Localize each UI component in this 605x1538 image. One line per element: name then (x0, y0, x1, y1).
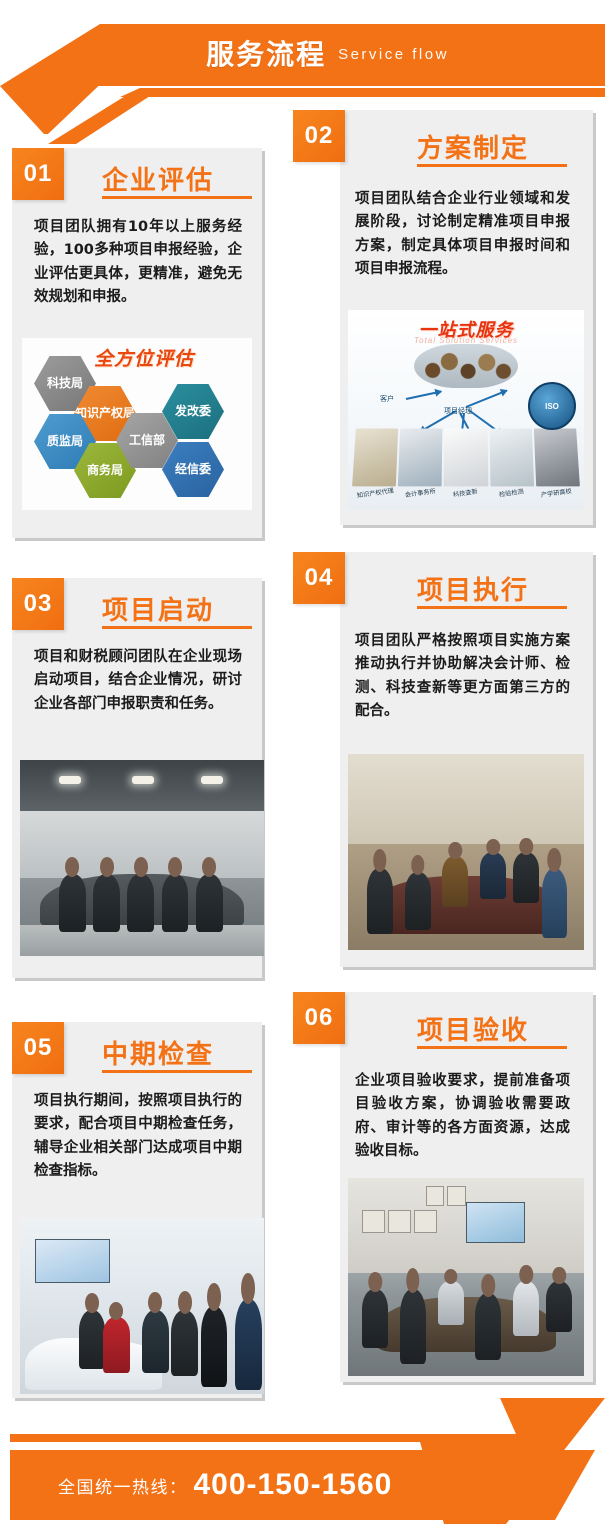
card-description: 企业项目验收要求，提前准备项目验收方案，协调验收需要政府、审计等的各方面资源，达… (355, 1070, 570, 1164)
card-media-photo (348, 1178, 584, 1376)
photo-person (513, 852, 539, 903)
header-title-group: 服务流程 Service flow (0, 24, 605, 86)
title-underline (417, 1046, 567, 1049)
collage-seal-icon: ISO (528, 382, 576, 430)
photo-person-red-coat (103, 1317, 130, 1373)
title-underline (417, 606, 567, 609)
card-media-photo (20, 760, 264, 956)
card-number-badge: 02 (293, 110, 345, 162)
collage-cell-2 (398, 429, 443, 487)
hotline-label: 全国统一热线： (58, 1473, 188, 1498)
photo-team-execution (348, 754, 584, 950)
card-number-badge: 03 (12, 578, 64, 630)
collage-caption: 产学研高校 (534, 485, 579, 505)
card-title: 中期检查 (102, 1034, 214, 1071)
footer-hotline-group: 全国统一热线： 400-150-1560 (58, 1450, 392, 1520)
photo-person (442, 856, 468, 907)
photo-person (367, 868, 393, 935)
collage-cell-5 (534, 429, 580, 487)
photo-person (201, 1306, 228, 1387)
card-media-photo (20, 1218, 264, 1394)
photo-person (93, 874, 120, 933)
card-title: 企业评估 (102, 160, 214, 197)
photo-person (362, 1289, 388, 1348)
photo-person (59, 874, 86, 933)
ceiling-light-icon (201, 776, 223, 784)
hexagon-chart: 全方位评估 科技局 知识产权局 质监局 商务局 工信部 发改委 经信委 (22, 338, 252, 510)
service-flow-poster: 服务流程 Service flow 01 企业评估 项目团队拥有10年以上服务经… (0, 0, 605, 1538)
collage-label-project-manager: 项目经理 (444, 406, 472, 416)
title-underline (102, 196, 252, 199)
photo-person (79, 1310, 106, 1370)
photo-person (171, 1310, 198, 1377)
page-title: 服务流程 (206, 41, 326, 69)
card-title: 项目执行 (417, 570, 529, 607)
page-subtitle: Service flow (338, 47, 449, 63)
page-header: 服务流程 Service flow (0, 0, 605, 120)
card-number-badge: 06 (293, 992, 345, 1044)
photo-person (162, 874, 189, 933)
card-number-badge: 04 (293, 552, 345, 604)
photo-person (400, 1289, 426, 1364)
photo-person (475, 1293, 501, 1360)
photo-meeting-room-kickoff (20, 760, 264, 956)
collage-photo-strip (352, 429, 580, 487)
service-collage: 一站式服务 Total Solution Services 客户 项目经理 IS… (348, 310, 584, 510)
hexagon-chart-title: 全方位评估 (94, 344, 194, 371)
title-underline (417, 164, 567, 167)
photo-person (542, 868, 568, 939)
display-screen-icon (35, 1239, 110, 1283)
card-media-photo (348, 754, 584, 950)
photo-layer-wall (348, 754, 584, 844)
card-media-service-collage: 一站式服务 Total Solution Services 客户 项目经理 IS… (348, 310, 584, 510)
photo-person (127, 874, 154, 933)
collage-caption: 检验检测 (489, 485, 534, 505)
collage-cell-3 (444, 429, 488, 487)
photo-person (405, 872, 431, 931)
photo-layer-ceiling (20, 760, 264, 811)
collage-cell-1 (352, 429, 398, 487)
card-description: 项目执行期间，按照项目执行的要求，配合项目中期检查任务，辅导企业相关部门达成项目… (34, 1090, 242, 1184)
wall-certificate-icon (447, 1186, 466, 1206)
card-description: 项目团队结合企业行业领域和发展阶段，讨论制定精准项目申报方案，制定具体项目申报时… (355, 188, 570, 282)
collage-meeting-photo (414, 344, 518, 388)
card-title: 项目启动 (102, 590, 214, 627)
photo-person (235, 1299, 262, 1391)
ceiling-light-icon (59, 776, 81, 784)
photo-person (438, 1281, 464, 1325)
collage-subtitle: Total Solution Services (414, 336, 518, 345)
title-underline (102, 1070, 252, 1073)
card-media-hexagon-chart: 全方位评估 科技局 知识产权局 质监局 商务局 工信部 发改委 经信委 (22, 338, 252, 510)
page-footer: 全国统一热线： 400-150-1560 (0, 1398, 605, 1538)
title-underline (102, 626, 252, 629)
collage-caption: 科技查新 (444, 485, 489, 505)
photo-person (480, 852, 506, 899)
projector-screen-icon (466, 1202, 525, 1244)
photo-person (142, 1310, 169, 1373)
collage-caption: 知识产权代理 (353, 485, 398, 505)
card-description: 项目团队严格按照项目实施方案推动执行并协助解决会计师、检测、科技查新等更方面第三… (355, 630, 570, 724)
card-description: 项目和财税顾问团队在企业现场启动项目，结合企业情况，研讨企业各部门申报职责和任务… (34, 646, 242, 716)
card-number-badge: 05 (12, 1022, 64, 1074)
collage-caption: 会计事务所 (398, 485, 443, 505)
photo-person (546, 1281, 572, 1332)
wall-certificate-icon (414, 1210, 437, 1234)
photo-acceptance-meeting (348, 1178, 584, 1376)
collage-captions: 知识产权代理 会计事务所 科技查新 检验检测 产学研高校 (354, 488, 578, 502)
collage-arrow-1 (406, 391, 442, 400)
card-title: 项目验收 (417, 1010, 529, 1047)
wall-certificate-icon (426, 1186, 445, 1206)
photo-showroom-inspection (20, 1218, 264, 1394)
card-number-badge: 01 (12, 148, 64, 200)
wall-certificate-icon (362, 1210, 385, 1234)
collage-label-customer: 客户 (380, 394, 394, 404)
hotline-number[interactable]: 400-150-1560 (194, 1468, 393, 1502)
card-title: 方案制定 (417, 128, 529, 165)
photo-person (513, 1281, 539, 1336)
ceiling-light-icon (132, 776, 154, 784)
collage-cell-4 (489, 429, 534, 487)
photo-person (196, 874, 223, 933)
card-description: 项目团队拥有10年以上服务经验，100多种项目申报经验，企业评估更具体，更精准，… (34, 216, 242, 310)
wall-certificate-icon (388, 1210, 411, 1234)
